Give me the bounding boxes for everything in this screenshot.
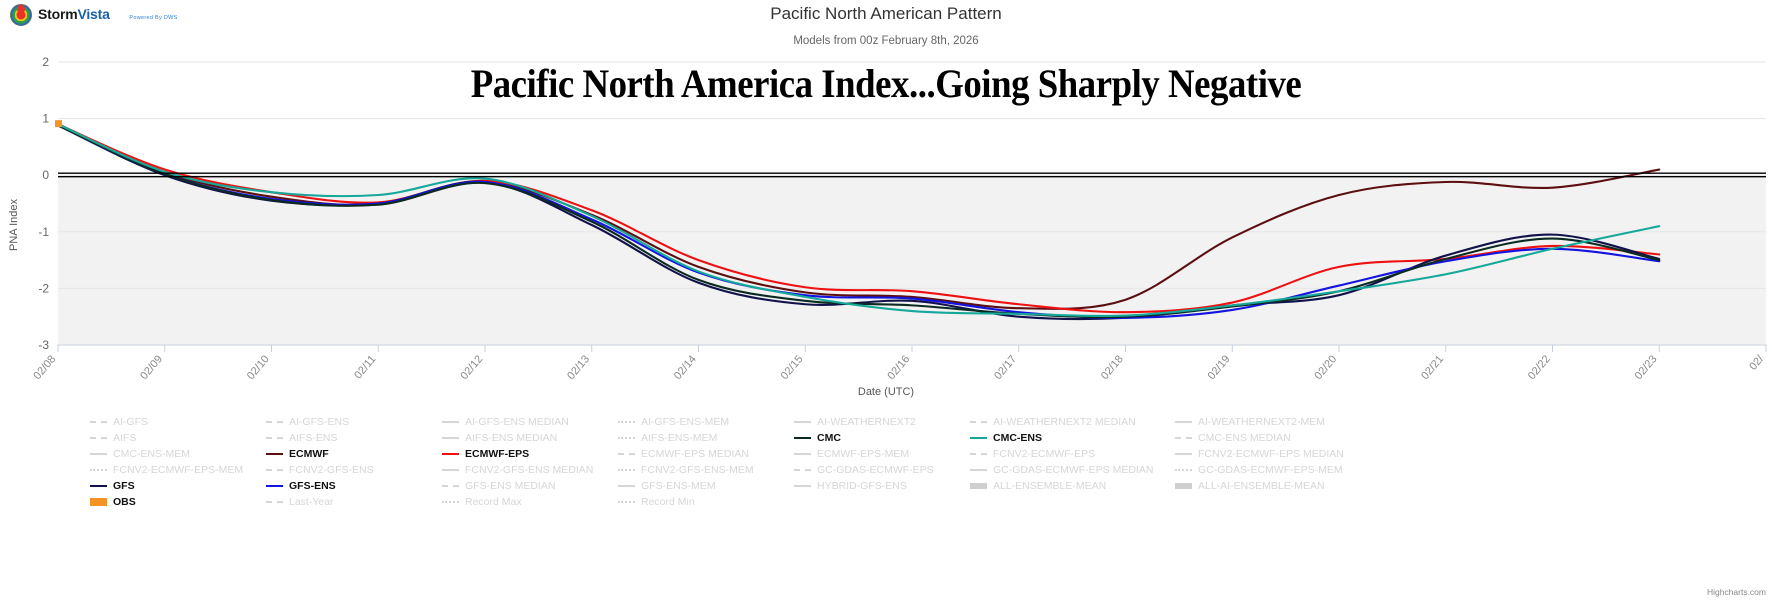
legend-row: GFSGFS-ENSGFS-ENS MEDIANGFS-ENS-MEMHYBRI… xyxy=(90,478,1750,494)
legend-item-record-max[interactable]: Record Max xyxy=(442,494,618,510)
legend-item-all-ai-ensemble-mean[interactable]: ALL-AI-ENSEMBLE-MEAN xyxy=(1175,478,1380,494)
svg-text:02/14: 02/14 xyxy=(672,353,699,382)
legend-item-label: ALL-AI-ENSEMBLE-MEAN xyxy=(1198,480,1325,492)
legend-item-label: HYBRID-GFS-ENS xyxy=(817,480,907,492)
legend-item-aifs[interactable]: AIFS xyxy=(90,430,266,446)
legend-item-cmc-ens-median[interactable]: CMC-ENS MEDIAN xyxy=(1175,430,1380,446)
legend-swatch-icon xyxy=(970,433,987,443)
legend-item-ai-gfs-ens-mem[interactable]: AI-GFS-ENS-MEM xyxy=(618,414,794,430)
legend-item-gfs[interactable]: GFS xyxy=(90,478,266,494)
legend-item-label: Record Max xyxy=(465,496,522,508)
legend-row: AI-GFSAI-GFS-ENSAI-GFS-ENS MEDIANAI-GFS-… xyxy=(90,414,1750,430)
chart-legend[interactable]: AI-GFSAI-GFS-ENSAI-GFS-ENS MEDIANAI-GFS-… xyxy=(90,414,1750,510)
legend-item-label: ECMWF xyxy=(289,448,329,460)
legend-swatch-icon xyxy=(266,481,283,491)
legend-swatch-icon xyxy=(90,449,107,459)
legend-swatch-icon xyxy=(1175,433,1192,443)
y-axis-label: PNA Index xyxy=(8,199,20,251)
legend-item-label: FCNV2-ECMWF-EPS-MEM xyxy=(113,464,243,476)
svg-text:02/09: 02/09 xyxy=(138,353,165,382)
legend-item-label: FCNV2-GFS-ENS xyxy=(289,464,374,476)
legend-row: FCNV2-ECMWF-EPS-MEMFCNV2-GFS-ENSFCNV2-GF… xyxy=(90,462,1750,478)
legend-item-hybrid-gfs-ens[interactable]: HYBRID-GFS-ENS xyxy=(794,478,970,494)
legend-item-last-year[interactable]: Last-Year xyxy=(266,494,442,510)
legend-item-fcnv2-ecmwf-eps-median[interactable]: FCNV2-ECMWF-EPS MEDIAN xyxy=(1175,446,1380,462)
legend-item-gc-gdas-ecmwf-eps[interactable]: GC-GDAS-ECMWF-EPS xyxy=(794,462,970,478)
legend-item-all-ensemble-mean[interactable]: ALL-ENSEMBLE-MEAN xyxy=(970,478,1175,494)
svg-text:1: 1 xyxy=(42,112,49,126)
legend-item-label: FCNV2-ECMWF-EPS xyxy=(993,448,1095,460)
legend-item-fcnv2-gfs-ens-median[interactable]: FCNV2-GFS-ENS MEDIAN xyxy=(442,462,618,478)
svg-text:02/21: 02/21 xyxy=(1419,353,1446,382)
legend-item-ai-gfs-ens-median[interactable]: AI-GFS-ENS MEDIAN xyxy=(442,414,618,430)
legend-item-gfs-ens-median[interactable]: GFS-ENS MEDIAN xyxy=(442,478,618,494)
legend-swatch-icon xyxy=(442,417,459,427)
legend-item-label: FCNV2-GFS-ENS-MEM xyxy=(641,464,754,476)
svg-text:02/08: 02/08 xyxy=(31,353,58,382)
legend-item-ecmwf[interactable]: ECMWF xyxy=(266,446,442,462)
legend-item-empty xyxy=(794,494,970,510)
legend-swatch-icon xyxy=(618,433,635,443)
legend-swatch-icon xyxy=(970,481,987,491)
legend-swatch-icon xyxy=(266,417,283,427)
legend-item-label: GC-GDAS-ECMWF-EPS-MEM xyxy=(1198,464,1343,476)
y-axis-ticks: 210-1-2-3 xyxy=(38,55,49,352)
legend-swatch-icon xyxy=(1175,449,1192,459)
legend-item-ecmwf-eps-mem[interactable]: ECMWF-EPS-MEM xyxy=(794,446,970,462)
legend-swatch-icon xyxy=(90,417,107,427)
legend-swatch-icon xyxy=(970,417,987,427)
legend-swatch-icon xyxy=(442,433,459,443)
legend-swatch-icon xyxy=(90,481,107,491)
legend-swatch-icon xyxy=(442,481,459,491)
chart-title: Pacific North American Pattern xyxy=(0,4,1772,24)
legend-item-ecmwf-eps-median[interactable]: ECMWF-EPS MEDIAN xyxy=(618,446,794,462)
legend-item-label: AI-GFS xyxy=(113,416,148,428)
legend-item-label: AIFS xyxy=(113,432,136,444)
svg-text:-2: -2 xyxy=(38,281,49,295)
legend-swatch-icon xyxy=(794,481,811,491)
legend-item-cmc-ens[interactable]: CMC-ENS xyxy=(970,430,1175,446)
legend-swatch-icon xyxy=(794,465,811,475)
legend-item-label: CMC-ENS xyxy=(993,432,1042,444)
svg-text:-1: -1 xyxy=(38,225,49,239)
legend-swatch-icon xyxy=(266,433,283,443)
legend-item-gfs-ens[interactable]: GFS-ENS xyxy=(266,478,442,494)
legend-swatch-icon xyxy=(618,465,635,475)
legend-item-label: FCNV2-ECMWF-EPS MEDIAN xyxy=(1198,448,1344,460)
legend-swatch-icon xyxy=(90,497,107,507)
legend-item-ai-weathernext2[interactable]: AI-WEATHERNEXT2 xyxy=(794,414,970,430)
svg-text:02/22: 02/22 xyxy=(1526,353,1553,382)
legend-item-label: AI-GFS-ENS xyxy=(289,416,349,428)
legend-item-gc-gdas-ecmwf-eps-mem[interactable]: GC-GDAS-ECMWF-EPS-MEM xyxy=(1175,462,1380,478)
legend-item-label: FCNV2-GFS-ENS MEDIAN xyxy=(465,464,593,476)
legend-item-label: GFS xyxy=(113,480,135,492)
legend-item-cmc[interactable]: CMC xyxy=(794,430,970,446)
svg-text:02/15: 02/15 xyxy=(779,353,806,382)
svg-text:-3: -3 xyxy=(38,338,49,352)
legend-item-label: Last-Year xyxy=(289,496,334,508)
svg-text:02/: 02/ xyxy=(1747,352,1767,372)
svg-text:02/13: 02/13 xyxy=(565,353,592,382)
legend-item-label: GFS-ENS-MEM xyxy=(641,480,716,492)
legend-item-label: ECMWF-EPS xyxy=(465,448,529,460)
svg-text:02/23: 02/23 xyxy=(1633,353,1660,382)
legend-item-gfs-ens-mem[interactable]: GFS-ENS-MEM xyxy=(618,478,794,494)
legend-item-label: GFS-ENS MEDIAN xyxy=(465,480,555,492)
legend-swatch-icon xyxy=(1175,481,1192,491)
legend-swatch-icon xyxy=(794,433,811,443)
legend-item-empty xyxy=(1175,494,1380,510)
legend-swatch-icon xyxy=(442,497,459,507)
svg-text:0: 0 xyxy=(42,168,49,182)
svg-text:02/16: 02/16 xyxy=(885,353,912,382)
headline-annotation: Pacific North America Index...Going Shar… xyxy=(71,60,1701,107)
x-axis-label: Date (UTC) xyxy=(0,386,1772,398)
legend-swatch-icon xyxy=(442,465,459,475)
legend-item-label: AI-GFS-ENS MEDIAN xyxy=(465,416,569,428)
legend-item-ai-gfs-ens[interactable]: AI-GFS-ENS xyxy=(266,414,442,430)
legend-item-label: AIFS-ENS-MEM xyxy=(641,432,717,444)
legend-item-empty xyxy=(970,494,1175,510)
svg-text:02/18: 02/18 xyxy=(1099,353,1126,382)
legend-item-label: AIFS-ENS xyxy=(289,432,337,444)
legend-item-label: AI-WEATHERNEXT2 MEDIAN xyxy=(993,416,1136,428)
svg-text:02/12: 02/12 xyxy=(458,353,485,382)
highcharts-credit: Highcharts.com xyxy=(1707,587,1766,597)
legend-item-fcnv2-ecmwf-eps-mem[interactable]: FCNV2-ECMWF-EPS-MEM xyxy=(90,462,266,478)
legend-item-label: AI-GFS-ENS-MEM xyxy=(641,416,729,428)
svg-text:02/11: 02/11 xyxy=(352,353,378,381)
svg-text:02/17: 02/17 xyxy=(992,353,1019,382)
svg-text:02/20: 02/20 xyxy=(1312,353,1339,382)
legend-item-fcnv2-gfs-ens[interactable]: FCNV2-GFS-ENS xyxy=(266,462,442,478)
svg-text:02/10: 02/10 xyxy=(245,353,272,382)
legend-item-ai-weathernext2-median[interactable]: AI-WEATHERNEXT2 MEDIAN xyxy=(970,414,1175,430)
legend-item-gc-gdas-ecmwf-eps-median[interactable]: GC-GDAS-ECMWF-EPS MEDIAN xyxy=(970,462,1175,478)
legend-swatch-icon xyxy=(1175,417,1192,427)
legend-item-label: ECMWF-EPS-MEM xyxy=(817,448,909,460)
legend-item-label: Record Min xyxy=(641,496,695,508)
legend-item-aifs-ens[interactable]: AIFS-ENS xyxy=(266,430,442,446)
legend-item-label: GC-GDAS-ECMWF-EPS xyxy=(817,464,934,476)
legend-item-ai-gfs[interactable]: AI-GFS xyxy=(90,414,266,430)
legend-swatch-icon xyxy=(266,497,283,507)
chart-subtitle: Models from 00z February 8th, 2026 xyxy=(0,35,1772,47)
legend-item-record-min[interactable]: Record Min xyxy=(618,494,794,510)
legend-item-label: AIFS-ENS MEDIAN xyxy=(465,432,557,444)
legend-item-label: ALL-ENSEMBLE-MEAN xyxy=(993,480,1106,492)
legend-item-label: OBS xyxy=(113,496,136,508)
x-axis-ticks: 02/0802/0902/1002/1102/1202/1302/1402/15… xyxy=(31,345,1766,382)
legend-item-label: CMC xyxy=(817,432,841,444)
legend-item-fcnv2-ecmwf-eps[interactable]: FCNV2-ECMWF-EPS xyxy=(970,446,1175,462)
legend-item-ecmwf-eps[interactable]: ECMWF-EPS xyxy=(442,446,618,462)
legend-item-aifs-ens-mem[interactable]: AIFS-ENS-MEM xyxy=(618,430,794,446)
legend-item-label: GFS-ENS xyxy=(289,480,336,492)
legend-swatch-icon xyxy=(618,417,635,427)
legend-row: AIFSAIFS-ENSAIFS-ENS MEDIANAIFS-ENS-MEMC… xyxy=(90,430,1750,446)
legend-item-cmc-ens-mem[interactable]: CMC-ENS-MEM xyxy=(90,446,266,462)
legend-swatch-icon xyxy=(618,481,635,491)
legend-item-label: AI-WEATHERNEXT2-MEM xyxy=(1198,416,1325,428)
legend-item-label: CMC-ENS-MEM xyxy=(113,448,190,460)
legend-row: CMC-ENS-MEMECMWFECMWF-EPSECMWF-EPS MEDIA… xyxy=(90,446,1750,462)
legend-item-ai-weathernext2-mem[interactable]: AI-WEATHERNEXT2-MEM xyxy=(1175,414,1380,430)
legend-swatch-icon xyxy=(794,417,811,427)
legend-swatch-icon xyxy=(794,449,811,459)
legend-item-label: ECMWF-EPS MEDIAN xyxy=(641,448,749,460)
legend-swatch-icon xyxy=(618,497,635,507)
legend-swatch-icon xyxy=(442,449,459,459)
legend-swatch-icon xyxy=(618,449,635,459)
legend-swatch-icon xyxy=(266,465,283,475)
legend-swatch-icon xyxy=(90,433,107,443)
legend-swatch-icon xyxy=(970,465,987,475)
legend-item-label: GC-GDAS-ECMWF-EPS MEDIAN xyxy=(993,464,1153,476)
legend-item-obs[interactable]: OBS xyxy=(90,494,266,510)
legend-swatch-icon xyxy=(90,465,107,475)
legend-swatch-icon xyxy=(266,449,283,459)
svg-text:02/19: 02/19 xyxy=(1206,353,1233,382)
legend-item-fcnv2-gfs-ens-mem[interactable]: FCNV2-GFS-ENS-MEM xyxy=(618,462,794,478)
legend-swatch-icon xyxy=(970,449,987,459)
legend-swatch-icon xyxy=(1175,465,1192,475)
legend-item-label: CMC-ENS MEDIAN xyxy=(1198,432,1291,444)
legend-item-label: AI-WEATHERNEXT2 xyxy=(817,416,916,428)
legend-item-aifs-ens-median[interactable]: AIFS-ENS MEDIAN xyxy=(442,430,618,446)
svg-text:2: 2 xyxy=(42,55,49,69)
legend-row: OBSLast-YearRecord MaxRecord Min xyxy=(90,494,1750,510)
